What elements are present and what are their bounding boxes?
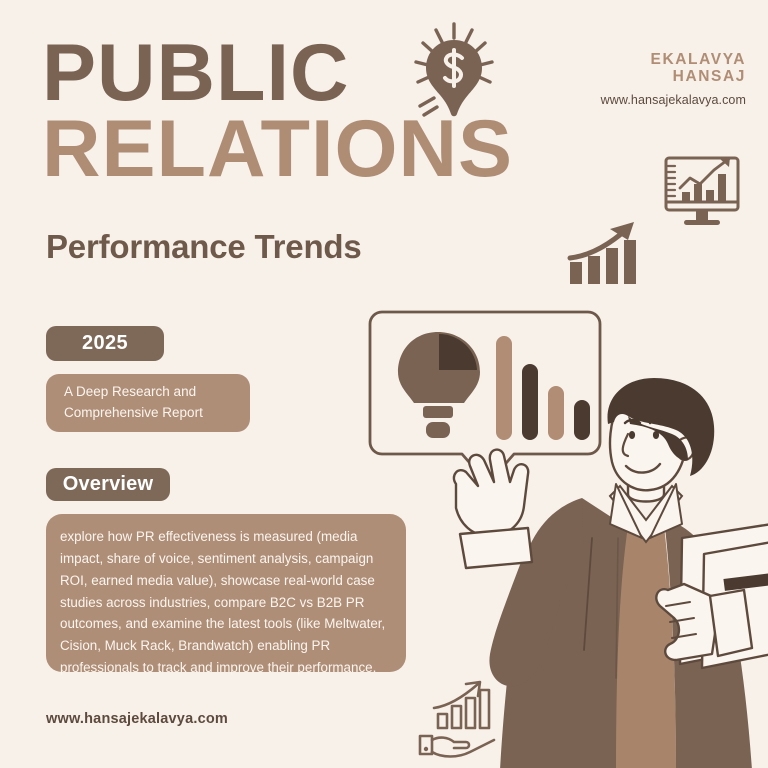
growth-bar-arrow-icon [562, 216, 648, 290]
overview-badge-label: Overview [63, 473, 154, 496]
brand-name-line2: HANSAJ [601, 69, 746, 86]
poster-canvas: EKALAVYA HANSAJ www.hansajekalavya.com .… [0, 0, 768, 768]
brand-website[interactable]: www.hansajekalavya.com [601, 94, 746, 108]
year-badge-label: 2025 [82, 332, 128, 355]
report-type-line2: Comprehensive Report [64, 403, 232, 424]
report-type-line1: A Deep Research and [64, 382, 232, 403]
year-badge: 2025 [46, 326, 164, 361]
overview-body-panel: explore how PR effectiveness is measured… [46, 514, 406, 672]
page-subtitle: Performance Trends [46, 228, 362, 266]
brand-name-line1: EKALAVYA [601, 52, 746, 69]
lightbulb-dollar-icon [404, 14, 504, 126]
overview-badge: Overview [46, 468, 170, 501]
businessman-waving-illustration [432, 378, 768, 768]
brand-block: EKALAVYA HANSAJ www.hansajekalavya.com [601, 52, 746, 108]
monitor-bar-chart-icon [656, 146, 754, 234]
footer-website[interactable]: www.hansajekalavya.com [46, 711, 228, 727]
report-type-panel: A Deep Research and Comprehensive Report [46, 374, 250, 432]
